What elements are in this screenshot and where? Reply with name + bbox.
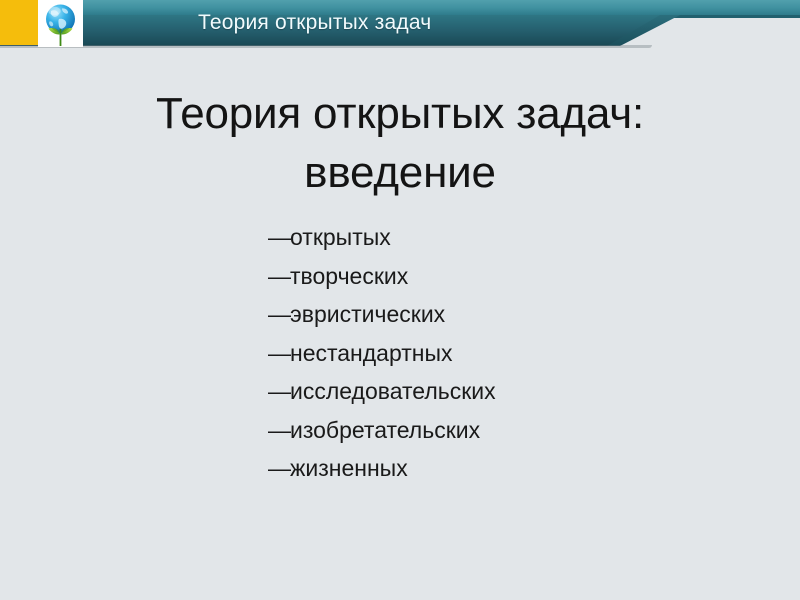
list-item-label: эвристических: [290, 301, 445, 327]
slide-title-line-1: Теория открытых задач:: [60, 84, 740, 143]
bullet-list: —открытых —творческих —эвристических —не…: [268, 218, 728, 488]
list-item-label: исследовательских: [290, 378, 496, 404]
list-item-label: открытых: [290, 224, 391, 250]
list-item: —открытых: [268, 218, 728, 257]
bullet-marker: —: [268, 378, 290, 404]
list-item: —исследовательских: [268, 372, 728, 411]
list-item: —эвристических: [268, 295, 728, 334]
bullet-marker: —: [268, 301, 290, 327]
slide-title-line-2: введение: [60, 143, 740, 202]
header-yellow-accent: [0, 0, 38, 45]
list-item-label: нестандартных: [290, 340, 453, 366]
slide-header: Теория открытых задач: [0, 0, 800, 48]
slide-title: Теория открытых задач: введение: [60, 84, 740, 202]
globe-sprout-logo-icon: [39, 1, 82, 47]
list-item: —изобретательских: [268, 411, 728, 450]
bullet-marker: —: [268, 263, 290, 289]
list-item-label: творческих: [290, 263, 408, 289]
list-item: —творческих: [268, 257, 728, 296]
list-item-label: жизненных: [290, 455, 408, 481]
list-item: —нестандартных: [268, 334, 728, 373]
slide-canvas: Теория открытых задач Теория открытых за…: [0, 0, 800, 600]
list-item-label: изобретательских: [290, 417, 480, 443]
bullet-marker: —: [268, 224, 290, 250]
bullet-marker: —: [268, 417, 290, 443]
header-band-shadow: [0, 45, 652, 48]
list-item: —жизненных: [268, 449, 728, 488]
header-title: Теория открытых задач: [198, 7, 618, 39]
bullet-marker: —: [268, 455, 290, 481]
bullet-marker: —: [268, 340, 290, 366]
